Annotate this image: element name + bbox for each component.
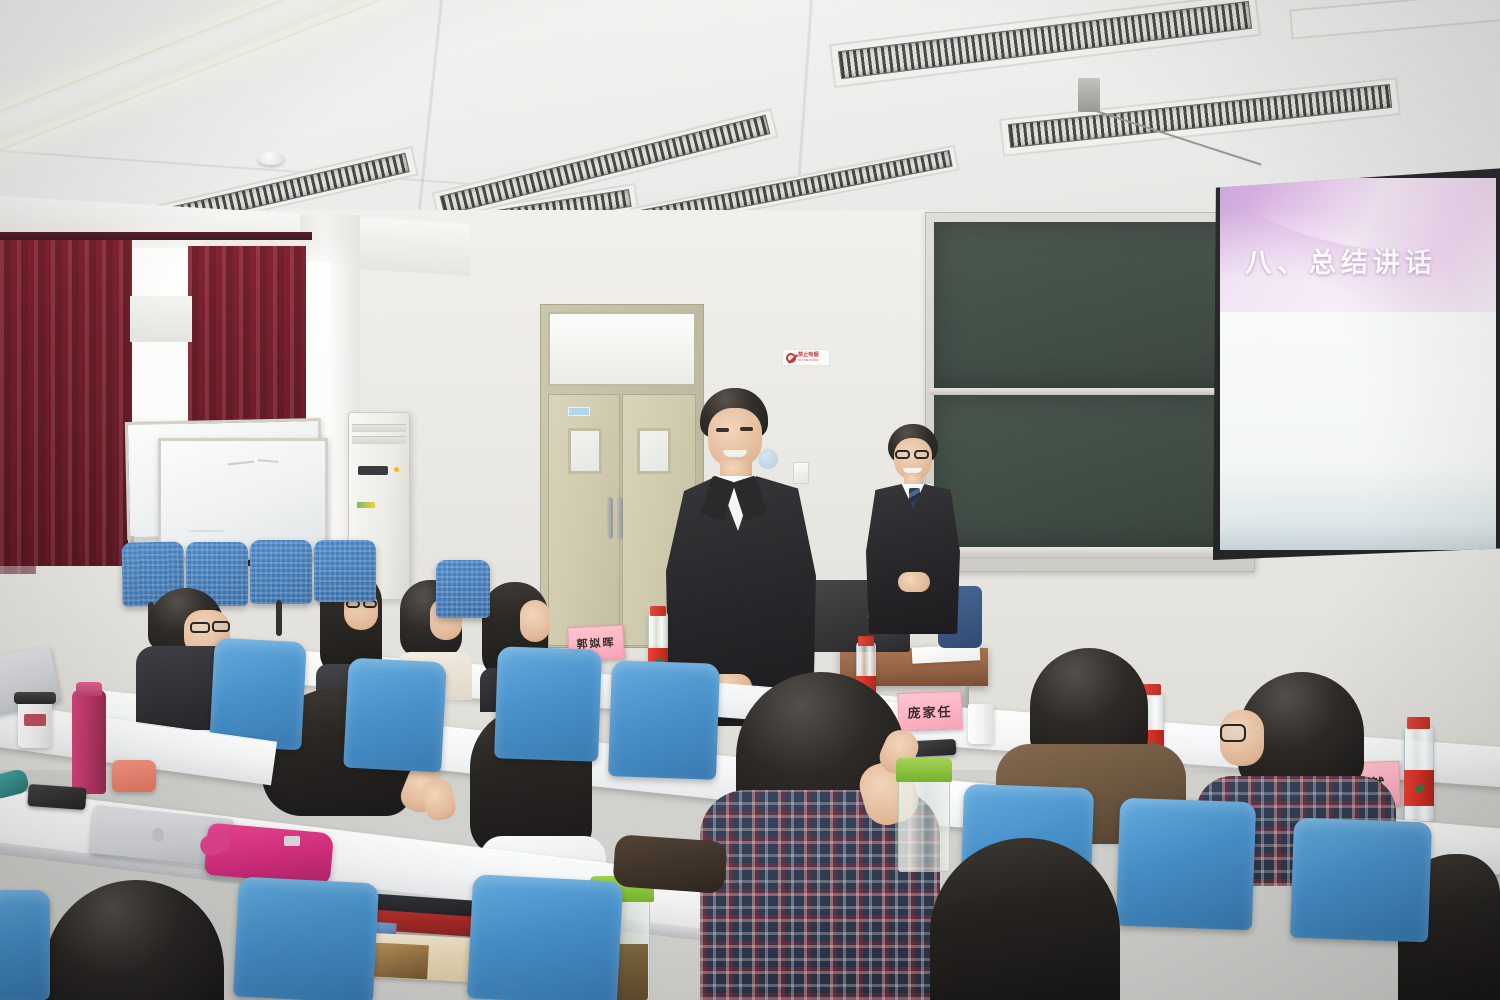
phone[interactable] (27, 784, 86, 810)
chair[interactable] (314, 540, 376, 602)
chair[interactable] (1290, 818, 1432, 943)
paper-cup (968, 704, 994, 744)
glasses-icon (914, 450, 929, 459)
speaker-eye-left (716, 428, 729, 432)
water-bottle-foreground (898, 776, 950, 872)
speaker-mouth (723, 450, 747, 457)
chair[interactable] (1116, 798, 1256, 931)
thermos-cap (76, 682, 102, 696)
no-smoking-sign: 禁止吸烟 NO SMOKING (782, 349, 830, 366)
door-notice-sticker (568, 407, 590, 416)
ac-logo (357, 502, 375, 508)
bottle-cap (1407, 717, 1430, 729)
blackboard-rail (930, 388, 1250, 395)
chair-frame (276, 600, 282, 636)
door-handle[interactable] (607, 497, 613, 539)
person-foreground-head (44, 880, 224, 1000)
curtain-rod (0, 232, 312, 240)
door-glass-pane (568, 428, 602, 474)
coffee-cup-lid (14, 692, 56, 704)
presentation-slide: 八、总结讲话 (1220, 178, 1496, 550)
dark-bag (612, 834, 727, 894)
person-host-standing (858, 424, 968, 664)
host-mouth (903, 468, 922, 473)
classroom-photo: 禁止吸烟 NO SMOKING 八、总结讲话 (0, 0, 1500, 1000)
student-hand (420, 777, 458, 822)
chair[interactable] (608, 660, 720, 780)
pink-thermos (72, 690, 106, 794)
ac-vent (352, 424, 406, 432)
blackboard-panel-upper (934, 222, 1246, 388)
slide-glare (1220, 468, 1496, 550)
blackboard-chalk-tray (922, 547, 1260, 559)
bottle-cap (858, 636, 874, 646)
projection-screen: 八、总结讲话 (1210, 168, 1500, 560)
chair[interactable] (467, 874, 623, 1000)
glasses-icon (895, 450, 910, 459)
speaker-face (708, 408, 762, 468)
bottle-label (1404, 770, 1434, 806)
flyer-image (373, 943, 429, 980)
blackboard-panel-lower (934, 395, 1246, 547)
glasses-icon (190, 622, 210, 633)
chair[interactable] (233, 876, 379, 1000)
no-smoking-label-en: NO SMOKING (798, 358, 819, 362)
coffee-cup-logo (24, 714, 46, 726)
no-smoking-icon (786, 353, 796, 363)
glasses-icon (212, 621, 230, 632)
name-card-text: 庞家任 (907, 701, 953, 722)
glasses-icon (1220, 724, 1246, 742)
chair[interactable] (343, 658, 447, 773)
window-blind (130, 296, 192, 342)
curtain-right (0, 236, 36, 574)
ac-display-panel[interactable] (358, 466, 388, 475)
chair[interactable] (436, 560, 490, 618)
student-face (520, 600, 550, 642)
host-hands (898, 572, 930, 592)
bottle-cap (650, 606, 666, 616)
bottle-cap (896, 758, 952, 782)
leaf-icon (1414, 782, 1425, 793)
whiteboard-marks (186, 530, 226, 532)
slide-title-text: 八、总结讲话 (1245, 241, 1437, 280)
ac-indicator-led (394, 467, 399, 472)
chair[interactable] (250, 540, 312, 604)
door-transom-window (548, 312, 696, 386)
door-handle[interactable] (617, 497, 623, 539)
chair[interactable] (494, 646, 602, 762)
name-card: 庞家任 (897, 691, 962, 731)
chair[interactable] (0, 890, 50, 1000)
speaker-eye-right (740, 427, 753, 431)
pencil-pouch (112, 760, 156, 792)
pink-bag-buckle (284, 836, 300, 846)
ac-vent (352, 436, 406, 444)
projector-mount (1078, 78, 1100, 112)
laptop-apple-logo-icon (152, 828, 164, 842)
smoke-detector-icon (258, 152, 284, 165)
